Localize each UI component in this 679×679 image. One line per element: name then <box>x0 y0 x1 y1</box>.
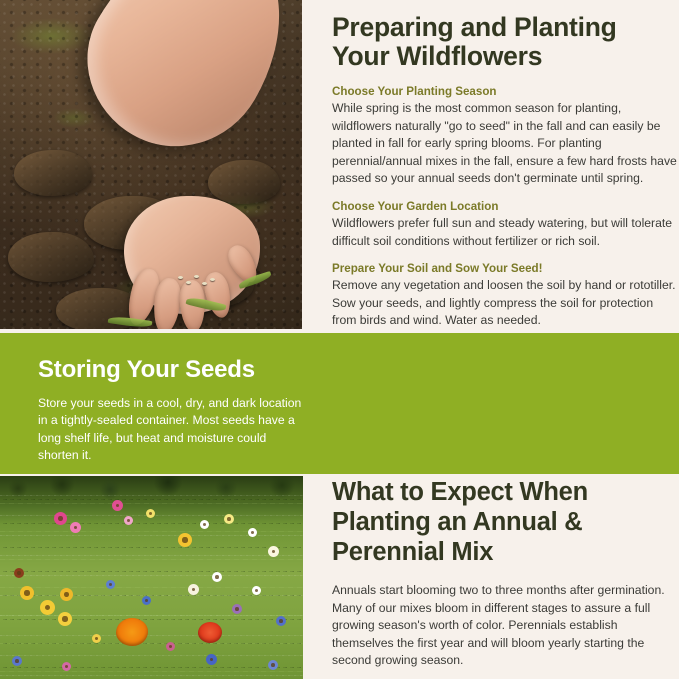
flower-bloom <box>58 612 72 626</box>
flower-bloom <box>146 509 155 518</box>
seeds-in-hand <box>176 272 220 296</box>
flower-bloom <box>268 660 278 670</box>
flower-bloom <box>268 546 279 557</box>
wildflower-planting-infographic: Preparing and Planting Your Wildflowers … <box>0 0 679 679</box>
preparing-and-planting-section: Preparing and Planting Your Wildflowers … <box>332 0 679 330</box>
flower-bloom <box>112 500 123 511</box>
red-poppy-bloom <box>198 622 222 643</box>
flower-bloom <box>206 654 217 665</box>
storing-section-body: Store your seeds in a cool, dry, and dar… <box>38 395 306 465</box>
flower-bloom <box>252 586 261 595</box>
flower-bloom <box>124 516 133 525</box>
garden-location-body: Wildflowers prefer full sun and steady w… <box>332 215 679 250</box>
soil-sowing-photo <box>0 0 302 329</box>
grass-texture <box>0 476 303 679</box>
flower-bloom <box>166 642 175 651</box>
planting-season-body: While spring is the most common season f… <box>332 100 679 188</box>
soil-clod <box>14 150 92 196</box>
flower-bloom <box>178 533 192 547</box>
planting-season-subtitle: Choose Your Planting Season <box>332 84 679 99</box>
flower-bloom <box>276 616 286 626</box>
storing-text-group: Storing Your Seeds Store your seeds in a… <box>38 357 306 465</box>
what-to-expect-section: What to Expect When Planting an Annual &… <box>332 477 679 670</box>
flower-bloom <box>92 634 101 643</box>
expect-section-body: Annuals start blooming two to three mont… <box>332 582 679 670</box>
expect-section-title: What to Expect When Planting an Annual &… <box>332 477 679 567</box>
prepare-soil-body: Remove any vegetation and loosen the soi… <box>332 277 679 330</box>
planting-season-block: Choose Your Planting Season While spring… <box>332 84 679 188</box>
flower-bloom <box>248 528 257 537</box>
flower-bloom <box>232 604 242 614</box>
flower-bloom <box>224 514 234 524</box>
garden-location-subtitle: Choose Your Garden Location <box>332 199 679 214</box>
flower-bloom <box>212 572 222 582</box>
flower-bloom <box>12 656 22 666</box>
flower-bloom <box>188 584 199 595</box>
soil-clod <box>208 160 280 204</box>
flower-bloom <box>54 512 67 525</box>
orange-poppy-bloom <box>116 618 148 646</box>
preparing-section-title: Preparing and Planting Your Wildflowers <box>332 13 679 71</box>
storing-your-seeds-band: Storing Your Seeds Store your seeds in a… <box>0 333 679 474</box>
flower-bloom <box>142 596 151 605</box>
garden-location-block: Choose Your Garden Location Wildflowers … <box>332 199 679 250</box>
flower-bloom <box>106 580 115 589</box>
flower-bloom <box>62 662 71 671</box>
prepare-soil-block: Prepare Your Soil and Sow Your Seed! Rem… <box>332 261 679 330</box>
flower-bloom <box>60 588 73 601</box>
flower-bloom <box>40 600 55 615</box>
wildflower-meadow-photo <box>0 476 303 679</box>
prepare-soil-subtitle: Prepare Your Soil and Sow Your Seed! <box>332 261 679 276</box>
flower-bloom <box>14 568 24 578</box>
flower-bloom <box>20 586 34 600</box>
flower-bloom <box>200 520 209 529</box>
storing-section-title: Storing Your Seeds <box>38 357 306 383</box>
soil-clod <box>8 232 94 282</box>
flower-bloom <box>70 522 81 533</box>
expect-body-block: Annuals start blooming two to three mont… <box>332 582 679 670</box>
